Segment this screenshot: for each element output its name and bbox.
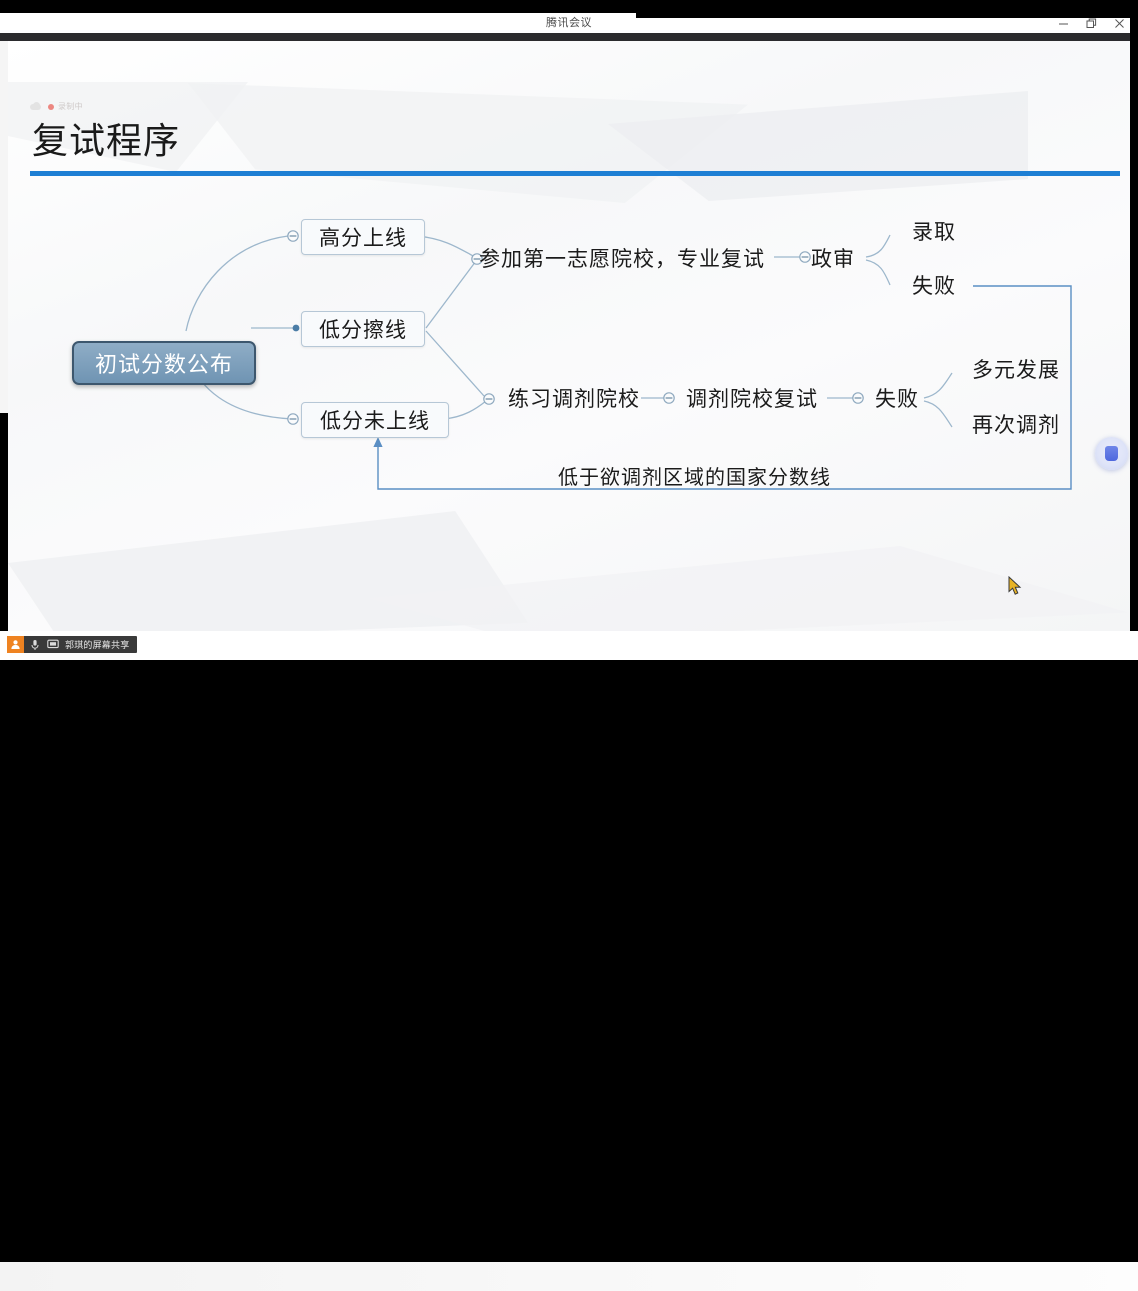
right-edge-black <box>1130 0 1138 660</box>
shared-screen-slide: 录制中 复试程序 <box>8 41 1130 631</box>
mindmap-node-lower-step2[interactable]: 调剂院校复试 <box>686 384 818 412</box>
status-bar-background <box>0 1262 1138 1291</box>
mindmap-node-level1-2[interactable]: 低分未上线 <box>301 402 449 438</box>
bullet-dot-dichacha <box>293 325 300 332</box>
mindmap-connectors <box>8 41 1130 631</box>
bottom-status-bar <box>0 631 1138 660</box>
minimize-icon[interactable] <box>1050 14 1076 32</box>
desktop-background-top <box>0 0 1138 13</box>
screen-share-label: 郭琪的屏幕共享 <box>65 638 129 651</box>
app-title: 腾讯会议 <box>0 13 1138 33</box>
mindmap: 初试分数公布 高分上线 低分擦线 低分未上线 参加第一志愿院校，专业复试 政审 … <box>8 41 1130 631</box>
restore-icon[interactable] <box>1078 14 1104 32</box>
mindmap-feedback-label[interactable]: 低于欲调剂区域的国家分数线 <box>558 461 831 489</box>
mindmap-node-lower-outcome-1[interactable]: 再次调剂 <box>972 410 1060 438</box>
screen-share-indicator[interactable]: 郭琪的屏幕共享 <box>7 636 137 653</box>
close-icon[interactable] <box>1106 14 1132 32</box>
feedback-arrowhead <box>373 437 382 447</box>
screen-share-icon[interactable] <box>45 636 60 653</box>
left-edge-sliver <box>0 41 8 413</box>
window-controls <box>1050 14 1132 32</box>
mindmap-node-lower-outcome-0[interactable]: 多元发展 <box>972 355 1060 383</box>
microphone-icon[interactable] <box>27 636 42 653</box>
mindmap-node-upper-step2[interactable]: 政审 <box>811 244 855 272</box>
mindmap-node-upper-step1[interactable]: 参加第一志愿院校，专业复试 <box>479 244 765 272</box>
mindmap-node-level1-0[interactable]: 高分上线 <box>301 219 425 255</box>
mindmap-node-upper-outcome-0[interactable]: 录取 <box>912 217 956 245</box>
floating-toolbar-ball[interactable] <box>1095 437 1128 470</box>
window-toolbar-strip <box>0 33 1138 41</box>
mindmap-node-upper-outcome-1[interactable]: 失败 <box>912 271 956 299</box>
floating-ball-glyph-icon <box>1105 446 1118 461</box>
participants-icon[interactable] <box>7 636 24 653</box>
mindmap-node-level1-1[interactable]: 低分擦线 <box>301 311 425 347</box>
screen-root: 腾讯会议 录制中 <box>0 0 1138 660</box>
mouse-cursor <box>1008 576 1022 596</box>
mindmap-node-lower-step1[interactable]: 练习调剂院校 <box>508 384 640 412</box>
mindmap-node-lower-step3[interactable]: 失败 <box>875 384 919 412</box>
mindmap-node-root[interactable]: 初试分数公布 <box>72 341 256 385</box>
